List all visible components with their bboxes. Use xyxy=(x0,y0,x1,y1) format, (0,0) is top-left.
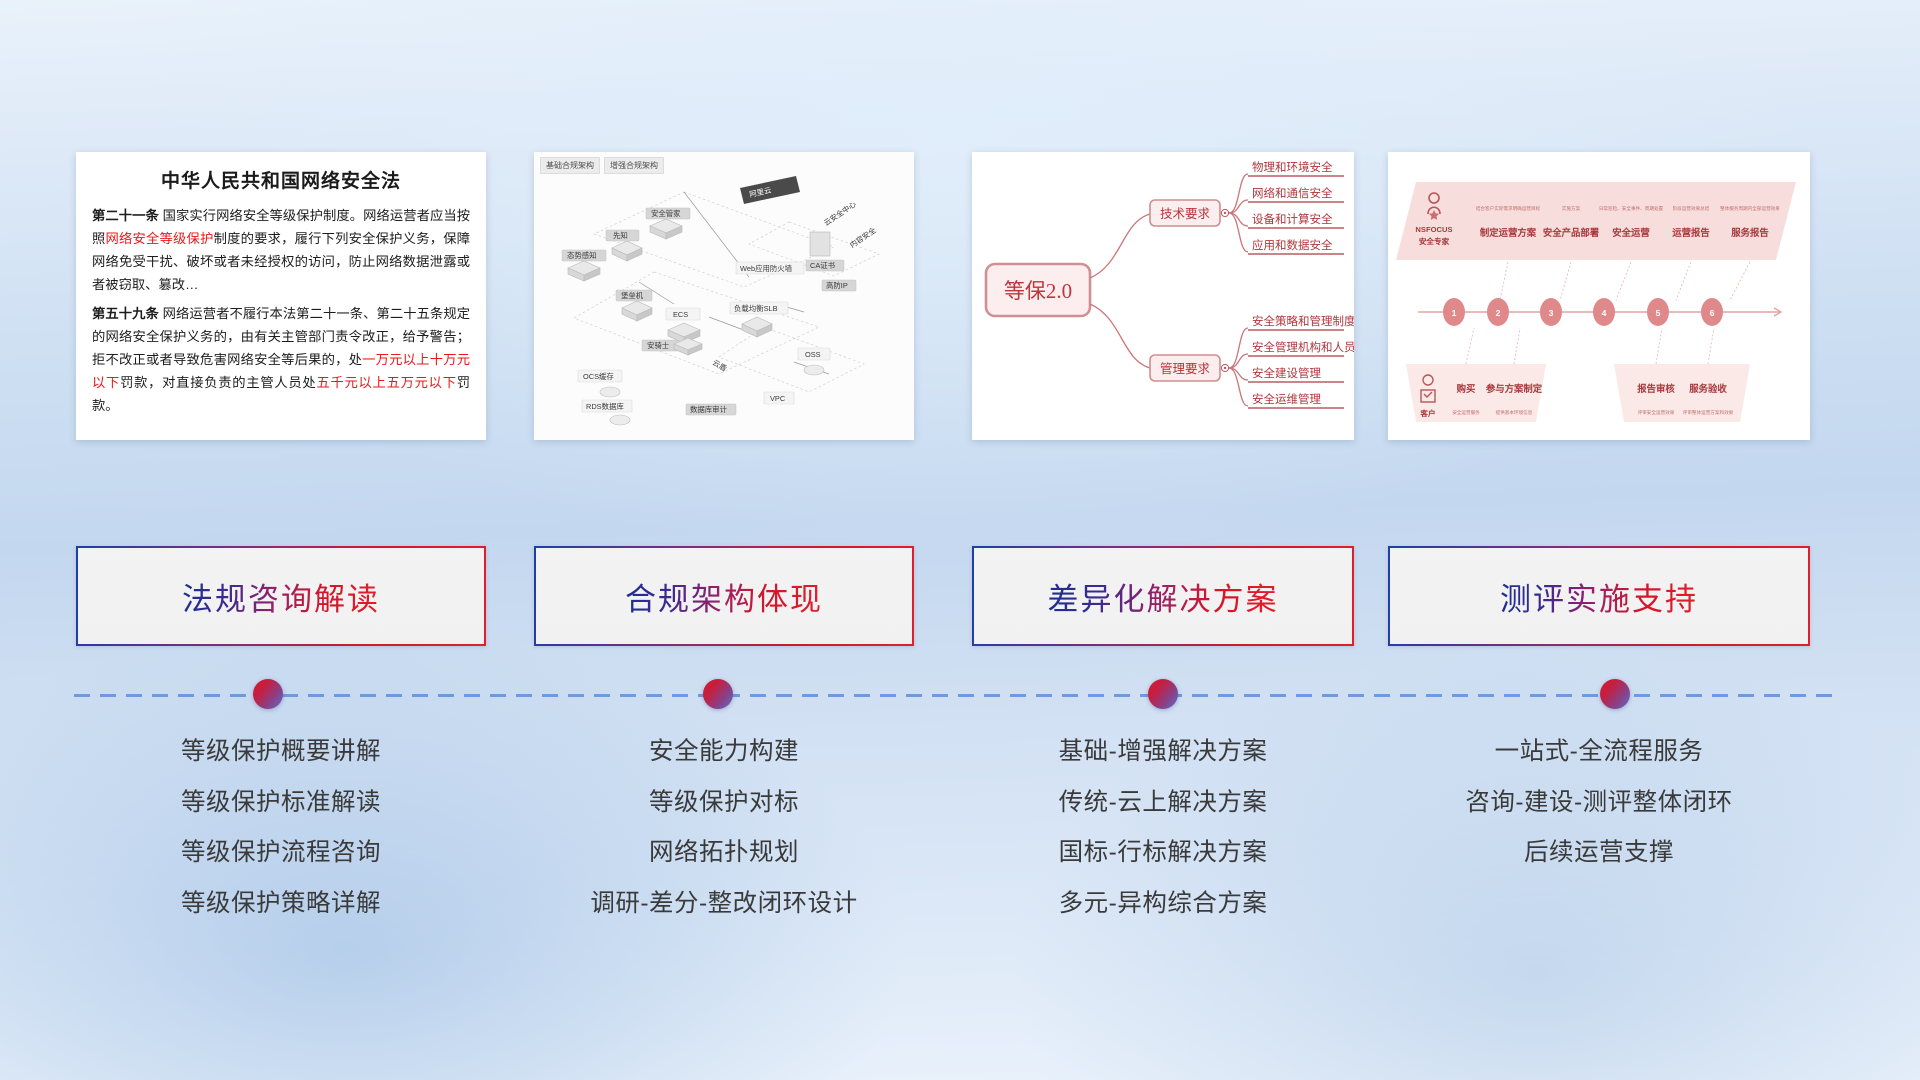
mindmap-diagram: 等保2.0 技术要求 物理和环境安全 网络和通信安全 xyxy=(972,152,1354,440)
mindmap-leaf-1-3: 安全运维管理 xyxy=(1252,392,1321,406)
nsfocus-bottom-main-2: 报告审核 xyxy=(1637,383,1675,394)
node-label-5: 安骑士 xyxy=(647,341,670,350)
timeline-number-2: 3 xyxy=(1549,308,1554,318)
node-ecs: ECS xyxy=(666,308,700,343)
timeline-number-3: 4 xyxy=(1602,308,1607,318)
node-label-10: CA证书 xyxy=(810,261,836,270)
mindmap-leaf-0-1: 网络和通信安全 xyxy=(1252,186,1333,200)
nsfocus-top-main-0: 制定运营方案 xyxy=(1480,227,1537,238)
node-oss: OSS xyxy=(798,348,830,375)
node-aegis: 安骑士 xyxy=(642,338,702,355)
node-label-6: OCS缓存 xyxy=(583,372,614,381)
nsfocus-top-main-4: 服务报告 xyxy=(1731,227,1769,238)
nsfocus-top-sub-4: 整体服务周期内全部运营效果 xyxy=(1720,205,1780,212)
nsfocus-top-sub-0: 结合客户实际需求明确运营目标 xyxy=(1476,205,1541,212)
node-label-12: OSS xyxy=(805,350,821,359)
nsfocus-top-main-1: 安全产品部署 xyxy=(1543,227,1600,238)
node-ca-certificate: CA证书 xyxy=(806,232,844,271)
headline-box-differentiated-solution[interactable]: 差异化解决方案 xyxy=(972,546,1354,646)
headline-label-2: 差异化解决方案 xyxy=(1048,574,1279,619)
timeline-number-1: 2 xyxy=(1496,308,1501,318)
node-anti-ddos-ip: 高防IP xyxy=(822,280,856,291)
nsfocus-bottom-main-0: 购买 xyxy=(1457,383,1476,394)
headline-label-1: 合规架构体现 xyxy=(625,574,823,619)
law-highlight-2b: 五千元以上五万元以下 xyxy=(316,375,456,390)
node-label-13: VPC xyxy=(770,394,786,403)
node-ocs-cache: OCS缓存 xyxy=(578,370,622,397)
timeline-dot-3 xyxy=(1148,679,1178,709)
list-item: 等级保护策略详解 xyxy=(76,892,486,917)
list-item: 后续运营支撑 xyxy=(1388,841,1810,866)
architecture-diagram: 基础合规架构 增强合规架构 阿里云 xyxy=(534,152,914,440)
mindmap-leaf-0-3: 应用和数据安全 xyxy=(1252,238,1333,252)
node-label-9: Web应用防火墙 xyxy=(740,264,793,273)
headline-box-assessment-support[interactable]: 测评实施支持 xyxy=(1388,546,1810,646)
node-label-11: 高防IP xyxy=(826,281,848,290)
timeline-number-4: 5 xyxy=(1656,308,1661,318)
mindmap-leaf-1-1: 安全管理机构和人员 xyxy=(1252,340,1354,354)
nsfocus-bottom-sub-0: 安全运营服务 xyxy=(1452,409,1480,416)
timeline-dot-2 xyxy=(703,679,733,709)
mindmap-card: 等保2.0 技术要求 物理和环境安全 网络和通信安全 xyxy=(972,152,1354,440)
node-label-4: ECS xyxy=(673,310,688,319)
nsfocus-card: NSFOCUS 安全专家 结合客户实际需求明确运营目标 制定运营方案 实施方案 … xyxy=(1388,152,1810,440)
law-article-label-2: 第五十九条 xyxy=(92,306,159,321)
nsfocus-top-main-3: 运营报告 xyxy=(1672,227,1710,238)
list-item: 等级保护流程咨询 xyxy=(76,841,486,866)
list-item: 等级保护对标 xyxy=(534,791,914,816)
timeline-step-2: 2 xyxy=(1487,298,1509,326)
architecture-svg: 阿里云 安全管家 先知 xyxy=(534,152,914,440)
mindmap-leaf-0-2: 设备和计算安全 xyxy=(1252,212,1333,226)
feature-list-compliance-architecture: 安全能力构建 等级保护对标 网络拓扑规划 调研-差分-整改闭环设计 xyxy=(534,740,914,942)
feature-list-differentiated-solution: 基础-增强解决方案 传统-云上解决方案 国标-行标解决方案 多元-异构综合方案 xyxy=(972,740,1354,942)
feature-list-regulation-consulting: 等级保护概要讲解 等级保护标准解读 等级保护流程咨询 等级保护策略详解 xyxy=(76,740,486,942)
node-label-17: 内容安全 xyxy=(848,225,878,249)
nsfocus-bottom-main-1: 参与方案制定 xyxy=(1486,383,1543,394)
headline-box-regulation-consulting[interactable]: 法规咨询解读 xyxy=(76,546,486,646)
nsfocus-top-sub-2: 日常巡检、安全事件、周期处置 xyxy=(1599,205,1664,212)
architecture-card: 基础合规架构 增强合规架构 阿里云 xyxy=(534,152,914,440)
mindmap-leaf-1-2: 安全建设管理 xyxy=(1252,366,1321,380)
law-highlight-1: 网络安全等级保护 xyxy=(106,231,214,246)
nsfocus-top-main-2: 安全运营 xyxy=(1612,227,1650,238)
customer-label: 客户 xyxy=(1420,408,1435,418)
node-security-steward: 安全管家 xyxy=(646,208,690,239)
nsfocus-bottom-main-3: 服务验收 xyxy=(1689,383,1727,394)
nsfocus-timeline-diagram: NSFOCUS 安全专家 结合客户实际需求明确运营目标 制定运营方案 实施方案 … xyxy=(1388,152,1810,440)
list-item: 网络拓扑规划 xyxy=(534,841,914,866)
timeline-step-1: 1 xyxy=(1443,298,1465,326)
node-label-2: 态势感知 xyxy=(567,251,597,260)
node-xianzhi: 先知 xyxy=(606,230,642,261)
node-label-0: 安全管家 xyxy=(651,209,681,218)
headline-label-3: 测评实施支持 xyxy=(1500,574,1698,619)
node-waf: Web应用防火墙 xyxy=(736,262,804,274)
node-label-16: 云安全中心 xyxy=(822,199,858,227)
mindmap-root-label: 等保2.0 xyxy=(1004,279,1072,303)
mindmap-svg: 等保2.0 技术要求 物理和环境安全 网络和通信安全 xyxy=(972,152,1354,440)
list-item: 传统-云上解决方案 xyxy=(972,791,1354,816)
mindmap-root-node: 等保2.0 xyxy=(986,264,1090,316)
node-situational-awareness: 态势感知 xyxy=(562,250,606,281)
nsfocus-bottom-sub-3: 评审整体运营方案和效果 xyxy=(1683,409,1734,416)
timeline-step-5: 5 xyxy=(1647,298,1669,326)
feature-lists-row: 等级保护概要讲解 等级保护标准解读 等级保护流程咨询 等级保护策略详解 安全能力… xyxy=(0,740,1920,940)
law-card: 中华人民共和国网络安全法 第二十一条 国家实行网络安全等级保护制度。网络运营者应… xyxy=(76,152,486,440)
node-label-8: 负载均衡SLB xyxy=(734,304,778,313)
list-item: 等级保护标准解读 xyxy=(76,791,486,816)
nsfocus-bottom-sub-1: 提供基本环境信息 xyxy=(1496,409,1533,416)
list-item: 咨询-建设-测评整体闭环 xyxy=(1388,791,1810,816)
node-label-14: 数据库审计 xyxy=(690,405,728,414)
headline-label-0: 法规咨询解读 xyxy=(182,574,380,619)
list-item: 多元-异构综合方案 xyxy=(972,892,1354,917)
nsfocus-brand-line-2: 安全专家 xyxy=(1419,236,1450,246)
law-card-title: 中华人民共和国网络安全法 xyxy=(92,166,470,193)
mindmap-branch-label-1: 管理要求 xyxy=(1160,361,1211,376)
timeline-step-6: 6 xyxy=(1701,298,1723,326)
list-item: 一站式-全流程服务 xyxy=(1388,740,1810,765)
nsfocus-top-sub-3: 阶段运营效果总结 xyxy=(1673,205,1710,212)
feature-list-assessment-support: 一站式-全流程服务 咨询-建设-测评整体闭环 后续运营支撑 xyxy=(1388,740,1810,892)
list-item: 等级保护概要讲解 xyxy=(76,740,486,765)
reference-images-row: 中华人民共和国网络安全法 第二十一条 国家实行网络安全等级保护制度。网络运营者应… xyxy=(0,0,1920,440)
node-vpc: VPC xyxy=(764,392,794,404)
list-item: 安全能力构建 xyxy=(534,740,914,765)
headline-box-compliance-architecture[interactable]: 合规架构体现 xyxy=(534,546,914,646)
law-text-2b: 罚款，对直接负责的主管人员处 xyxy=(120,375,316,390)
nsfocus-top-sub-1: 实施方案 xyxy=(1562,205,1581,212)
mindmap-leaf-1-0: 安全策略和管理制度 xyxy=(1252,314,1354,328)
timeline-dashed-line xyxy=(74,694,1838,697)
law-paragraph-2: 第五十九条 网络运营者不履行本法第二十一条、第二十五条规定的网络安全保护义务的，… xyxy=(92,303,470,417)
node-label-1: 先知 xyxy=(613,231,628,240)
list-item: 基础-增强解决方案 xyxy=(972,740,1354,765)
law-card-body: 中华人民共和国网络安全法 第二十一条 国家实行网络安全等级保护制度。网络运营者应… xyxy=(76,152,486,426)
nsfocus-svg: NSFOCUS 安全专家 结合客户实际需求明确运营目标 制定运营方案 实施方案 … xyxy=(1388,152,1810,440)
node-bastion-host: 堡垒机 xyxy=(616,290,652,321)
mindmap-branch-management: 管理要求 安全策略和管理制度 安全管理机构和人员 安全建设管理 安全运维管理 xyxy=(1150,314,1354,408)
node-rds-database: RDS数据库 xyxy=(582,400,632,425)
node-label-3: 堡垒机 xyxy=(621,291,644,300)
timeline-step-3: 3 xyxy=(1540,298,1562,326)
nsfocus-brand-line-1: NSFOCUS xyxy=(1415,225,1452,234)
timeline-number-5: 6 xyxy=(1710,308,1715,318)
node-label-7: RDS数据库 xyxy=(586,402,624,411)
mindmap-branch-technical: 技术要求 物理和环境安全 网络和通信安全 设备和计算安全 应用和数据安全 xyxy=(1150,160,1344,254)
timeline-step-4: 4 xyxy=(1593,298,1615,326)
headline-row: 法规咨询解读 合规架构体现 差异化解决方案 测评实施支持 xyxy=(0,546,1920,650)
law-article-label-1: 第二十一条 xyxy=(92,208,159,223)
timeline-rule-row xyxy=(0,692,1920,732)
node-db-audit: 数据库审计 xyxy=(686,404,736,415)
timeline-dot-1 xyxy=(253,679,283,709)
list-item: 国标-行标解决方案 xyxy=(972,841,1354,866)
law-paragraph-1: 第二十一条 国家实行网络安全等级保护制度。网络运营者应当按照网络安全等级保护制度… xyxy=(92,205,470,296)
mindmap-branch-label-0: 技术要求 xyxy=(1160,207,1211,221)
node-slb: 负载均衡SLB xyxy=(730,302,788,337)
nsfocus-bottom-sub-2: 评审安全运营效果 xyxy=(1638,409,1675,416)
architecture-title-chip: 阿里云 xyxy=(740,176,800,204)
list-item: 调研-差分-整改闭环设计 xyxy=(534,892,914,917)
timeline-number-0: 1 xyxy=(1452,308,1457,318)
timeline-dot-4 xyxy=(1600,679,1630,709)
mindmap-leaf-0-0: 物理和环境安全 xyxy=(1252,160,1333,174)
node-label-15: 云盾 xyxy=(711,358,729,373)
